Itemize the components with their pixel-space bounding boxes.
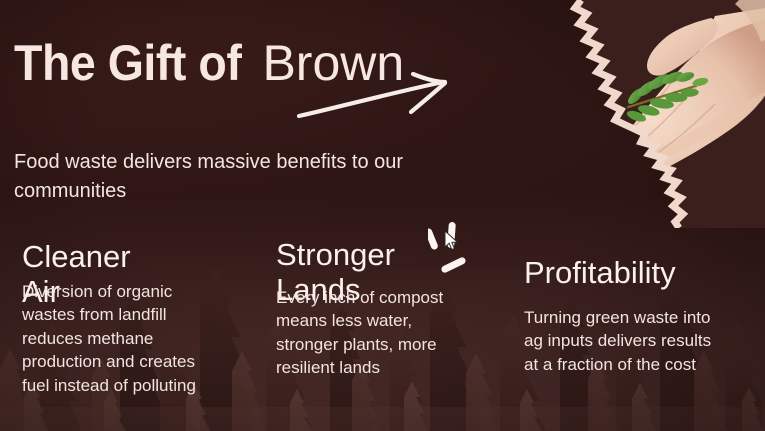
benefit-heading-profitability: Profitability <box>524 256 676 291</box>
page-title: The Gift ofBrown <box>14 38 404 88</box>
slide-subtitle: Food waste delivers massive benefits to … <box>14 148 466 206</box>
benefit-body-air: Diversion of organic wastes from landfil… <box>22 280 200 397</box>
title-bold-part: The Gift of <box>14 38 241 88</box>
benefit-body-profitability: Turning green waste into ag inputs deliv… <box>524 306 724 376</box>
hand-with-leaf-photo <box>529 0 765 228</box>
photo-inner <box>529 0 765 228</box>
slide-canvas: The Gift ofBrown Cleaner Air Diversion o… <box>0 0 765 431</box>
title-light-part: Brown <box>262 38 404 88</box>
benefit-body-lands: Every inch of compost means less water, … <box>276 286 466 380</box>
